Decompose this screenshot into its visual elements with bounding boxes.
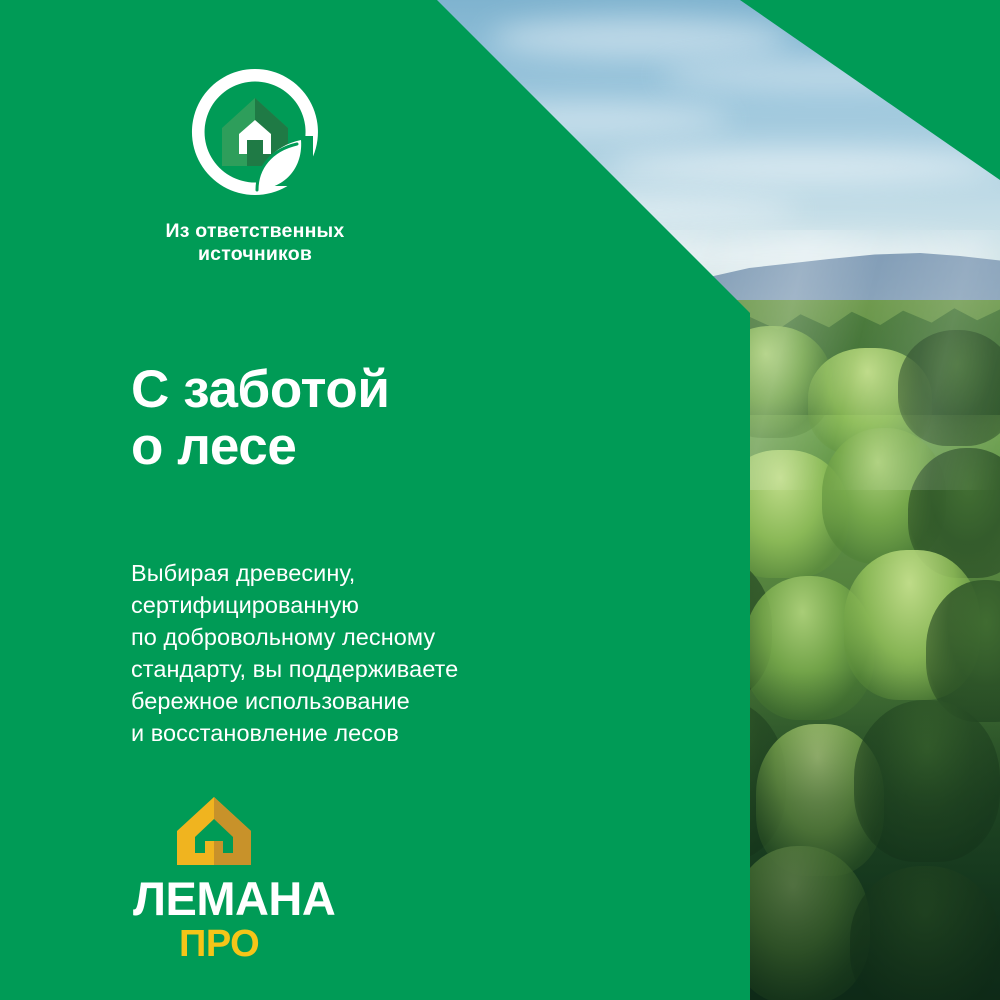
brand-lockup: ЛЕМАНА ПРО [133,795,363,963]
responsible-sources-eco-logo-icon [185,62,325,202]
content-layer: Из ответственных источников С заботой о … [0,0,750,1000]
eco-certification-badge: Из ответственных источников [130,62,380,266]
poster-root: Из ответственных источников С заботой о … [0,0,1000,1000]
lemana-house-icon [175,795,253,867]
body-paragraph: Выбирая древесину, сертифицированную по … [131,557,561,749]
page-title: С заботой о лесе [131,361,390,477]
eco-badge-caption: Из ответственных источников [145,220,365,266]
brand-name: ЛЕМАНА [133,875,363,922]
brand-subname: ПРО [179,925,363,963]
